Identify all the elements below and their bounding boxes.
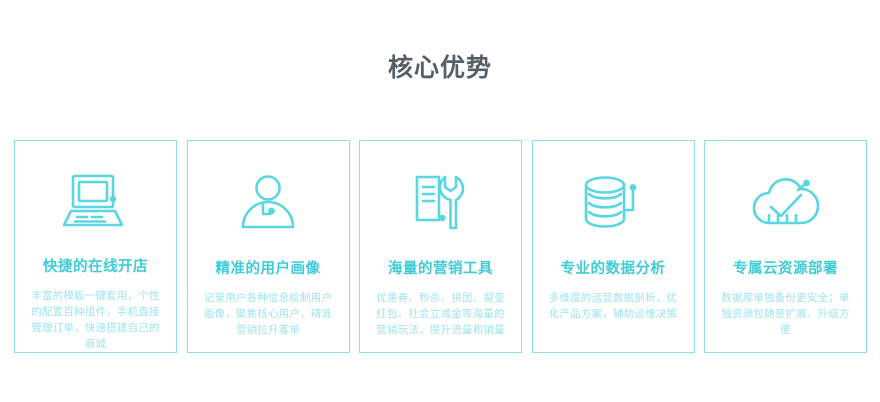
laptop-computer-icon: [60, 172, 132, 232]
card-title: 海量的营销工具: [388, 260, 493, 278]
document-wrench-icon: [405, 172, 477, 234]
cloud-check-icon: [750, 172, 822, 234]
card-description: 优惠券、秒杀、拼团、裂变红包、社会立减金等海量的营销玩法，提升流量和销量: [373, 290, 509, 338]
card-description: 数据库单独备份更安全；单独资源包随意扩展、升级方便: [718, 290, 854, 338]
user-profile-icon: [232, 172, 304, 234]
card-title: 专业的数据分析: [561, 260, 666, 278]
advantage-card[interactable]: 快捷的在线开店 丰富的模板一键套用，个性的配置百种组件，手机直接管理订单，快速搭…: [14, 140, 177, 353]
advantages-section: 核心优势 快捷的在线开店 丰富的模板一键套用，个性的配置百种组件，手机直接管理订…: [0, 0, 880, 402]
card-title: 快捷的在线开店: [43, 258, 148, 276]
card-title: 专属云资源部署: [733, 260, 838, 278]
advantage-card[interactable]: 专业的数据分析 多维度的运营数据剖析，优化产品方案，辅助运维决策: [532, 140, 695, 353]
advantage-card-list: 快捷的在线开店 丰富的模板一键套用，个性的配置百种组件，手机直接管理订单，快速搭…: [14, 140, 867, 353]
database-icon: [577, 172, 649, 234]
page-title: 核心优势: [0, 52, 880, 84]
card-title: 精准的用户画像: [216, 260, 321, 278]
advantage-card[interactable]: 精准的用户画像 记录用户各种信息绘制用户画像，聚焦核心用户，精准营销拉升客单: [187, 140, 350, 353]
card-description: 丰富的模板一键套用，个性的配置百种组件，手机直接管理订单，快速搭建自己的商城: [28, 288, 164, 352]
card-description: 记录用户各种信息绘制用户画像，聚焦核心用户，精准营销拉升客单: [200, 290, 336, 338]
advantage-card[interactable]: 海量的营销工具 优惠券、秒杀、拼团、裂变红包、社会立减金等海量的营销玩法，提升流…: [359, 140, 522, 353]
card-description: 多维度的运营数据剖析，优化产品方案，辅助运维决策: [545, 290, 681, 322]
advantage-card[interactable]: 专属云资源部署 数据库单独备份更安全；单独资源包随意扩展、升级方便: [704, 140, 867, 353]
